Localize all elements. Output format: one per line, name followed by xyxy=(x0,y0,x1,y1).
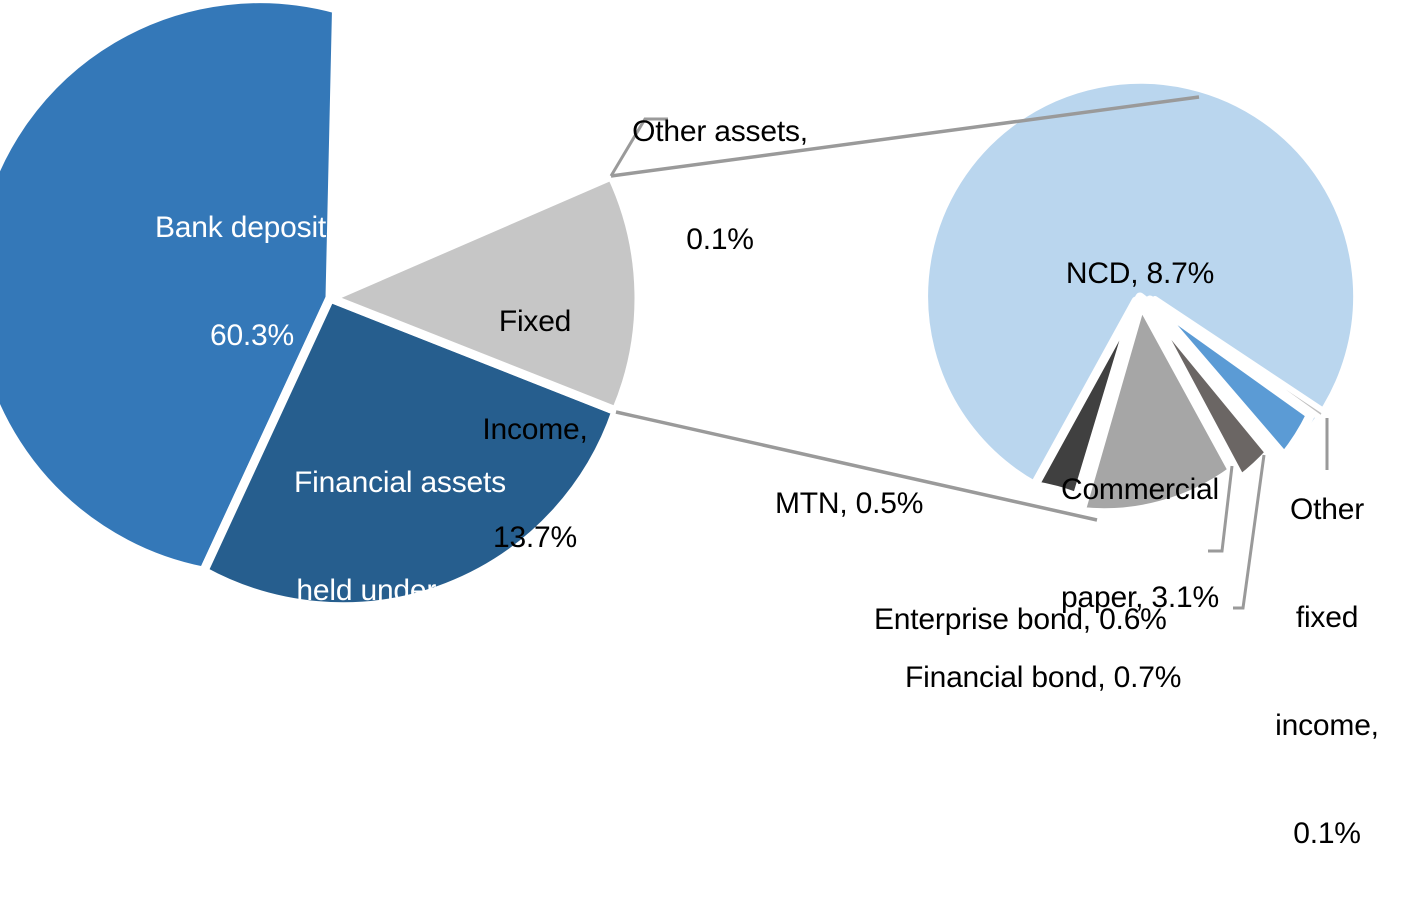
label-financial-bond: Financial bond, 0.7% xyxy=(905,588,1245,768)
label-fixed-income-line2: Income, xyxy=(455,412,615,448)
label-fixed-income-line3: 13.7% xyxy=(455,520,615,556)
label-fixed-income: Fixed Income, 13.7% xyxy=(455,232,615,628)
label-financial-bond-text: Financial bond, 0.7% xyxy=(905,660,1245,696)
label-repo-line4: 25.9% xyxy=(255,789,545,825)
label-other-fixed-line2: fixed xyxy=(1257,600,1397,636)
label-other-fixed-income: Other fixed income, 0.1% xyxy=(1257,420,1397,924)
label-other-assets-line1: Other assets, xyxy=(600,114,840,150)
label-other-fixed-line4: 0.1% xyxy=(1257,816,1397,852)
label-other-fixed-line3: income, xyxy=(1257,708,1397,744)
label-commercial-paper-line1: Commercial xyxy=(1035,472,1245,508)
label-ncd-text: NCD, 8.7% xyxy=(1030,256,1250,292)
label-ncd: NCD, 8.7% xyxy=(1030,184,1250,364)
label-bank-deposits-line2: 60.3% xyxy=(122,318,382,354)
label-repo-line3: agreements, xyxy=(255,681,545,717)
label-other-assets-line2: 0.1% xyxy=(600,222,840,258)
label-mtn-text: MTN, 0.5% xyxy=(775,486,965,522)
pie-of-pie-chart: Bank deposits, 60.3% Financial assets he… xyxy=(0,0,1404,644)
label-bank-deposits: Bank deposits, 60.3% xyxy=(122,138,382,426)
label-fixed-income-line1: Fixed xyxy=(455,304,615,340)
label-bank-deposits-line1: Bank deposits, xyxy=(122,210,382,246)
label-other-assets: Other assets, 0.1% xyxy=(600,42,840,330)
label-other-fixed-line1: Other xyxy=(1257,492,1397,528)
